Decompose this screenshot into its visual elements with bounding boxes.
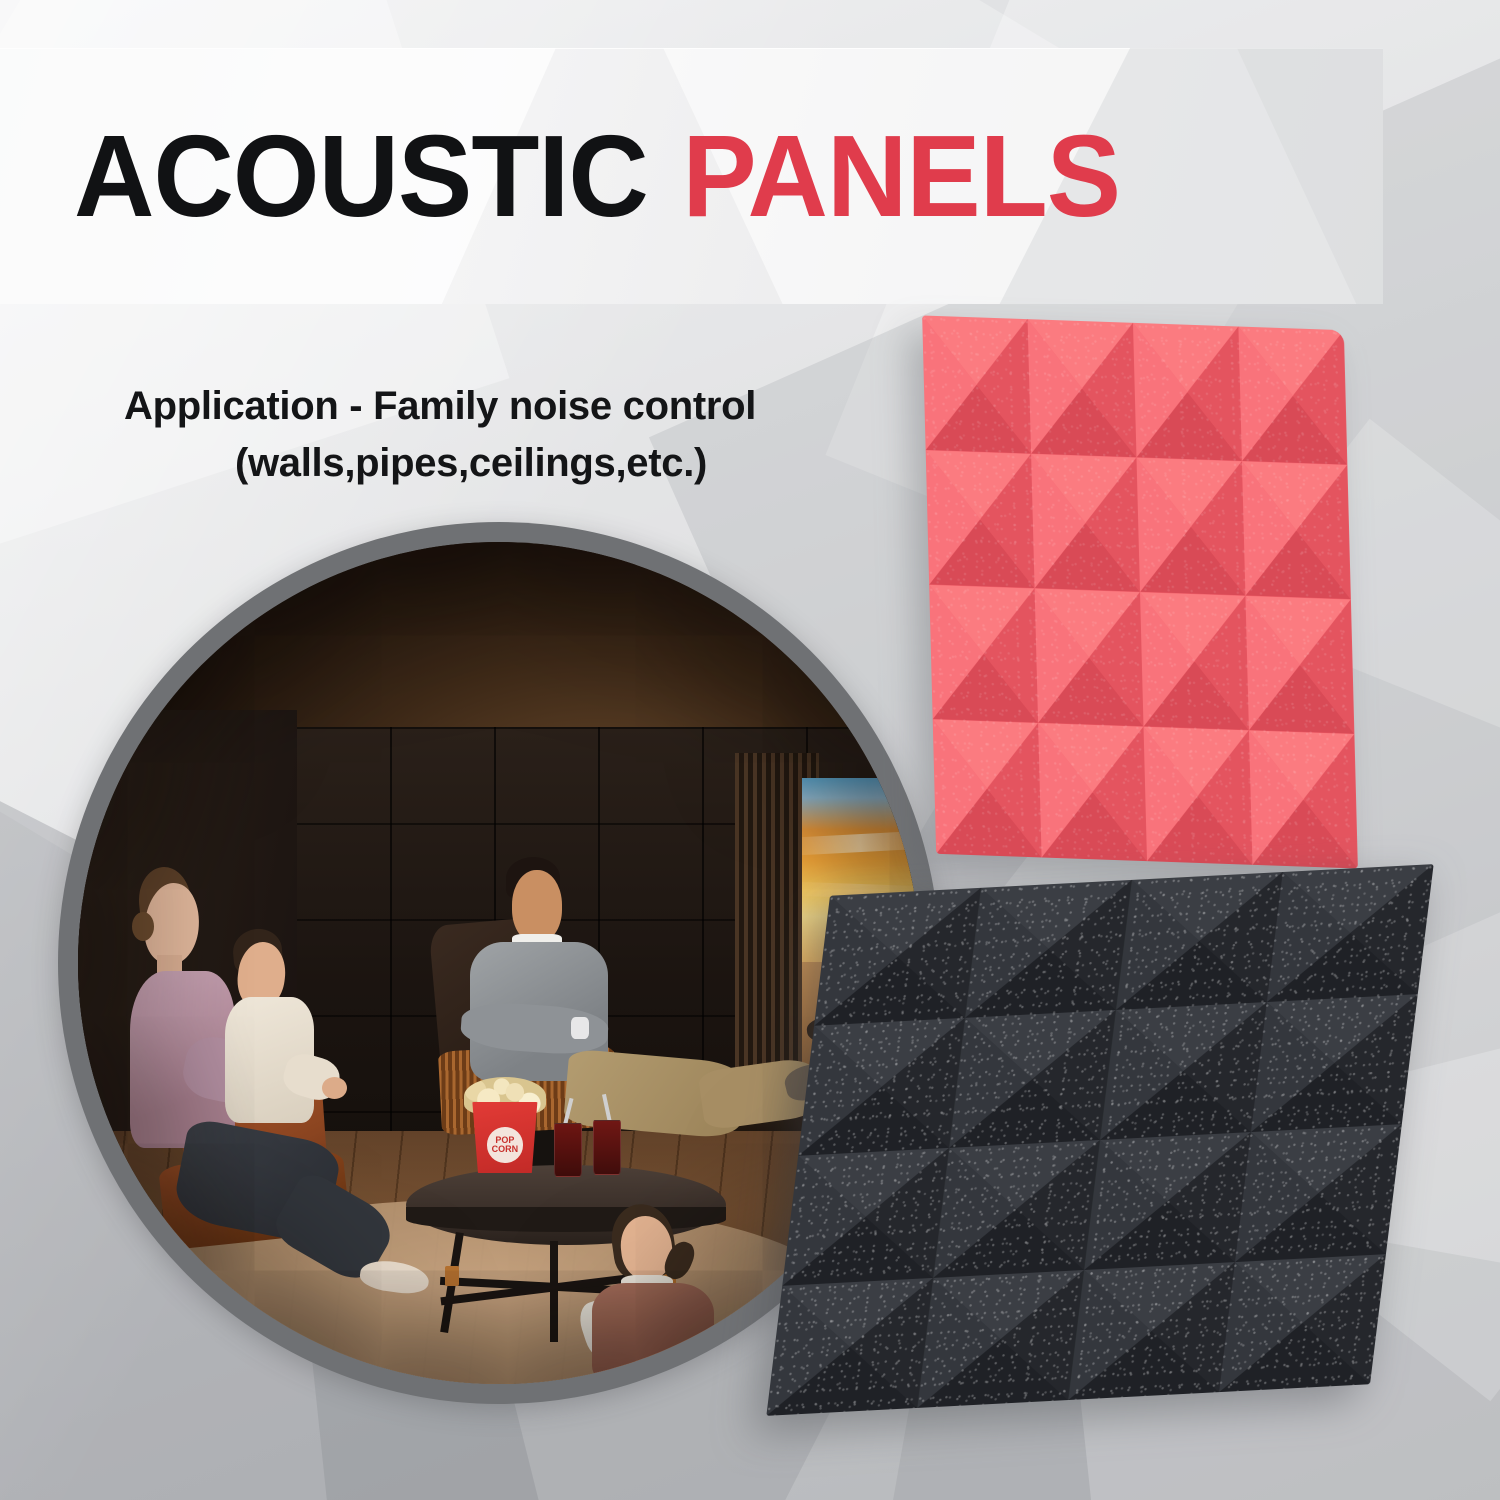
coffee-table-top <box>406 1165 726 1245</box>
product-charcoal-acoustic-panel <box>766 864 1433 1416</box>
title-banner: ACOUSTICPANELS <box>0 48 1383 304</box>
title-word-panels: PANELS <box>682 111 1120 241</box>
page-title: ACOUSTICPANELS <box>74 118 1120 234</box>
product-infographic: ACOUSTICPANELS Application - Family nois… <box>0 0 1500 1500</box>
subtitle-block: Application - Family noise control (wall… <box>124 378 924 492</box>
man-head <box>512 870 563 942</box>
child-hand <box>322 1077 347 1099</box>
charcoal-panel-surface <box>766 864 1433 1416</box>
title-word-acoustic: ACOUSTIC <box>74 111 648 241</box>
drink-glass-2 <box>593 1120 621 1176</box>
girl-dress <box>592 1283 714 1384</box>
subtitle-line-1: Application - Family noise control <box>124 378 924 435</box>
drink-glass-1 <box>554 1123 582 1177</box>
product-red-acoustic-panel <box>922 315 1358 868</box>
man-wristwatch <box>571 1017 590 1039</box>
red-panel-surface <box>922 315 1358 868</box>
woman-hair-bun <box>132 912 154 941</box>
popcorn-bucket-label: POP CORN <box>487 1127 522 1162</box>
coffee-table-copper-cap-1 <box>445 1266 458 1286</box>
coffee-table-leg-3 <box>550 1241 558 1342</box>
subtitle-line-2: (walls,pipes,ceilings,etc.) <box>124 435 924 492</box>
